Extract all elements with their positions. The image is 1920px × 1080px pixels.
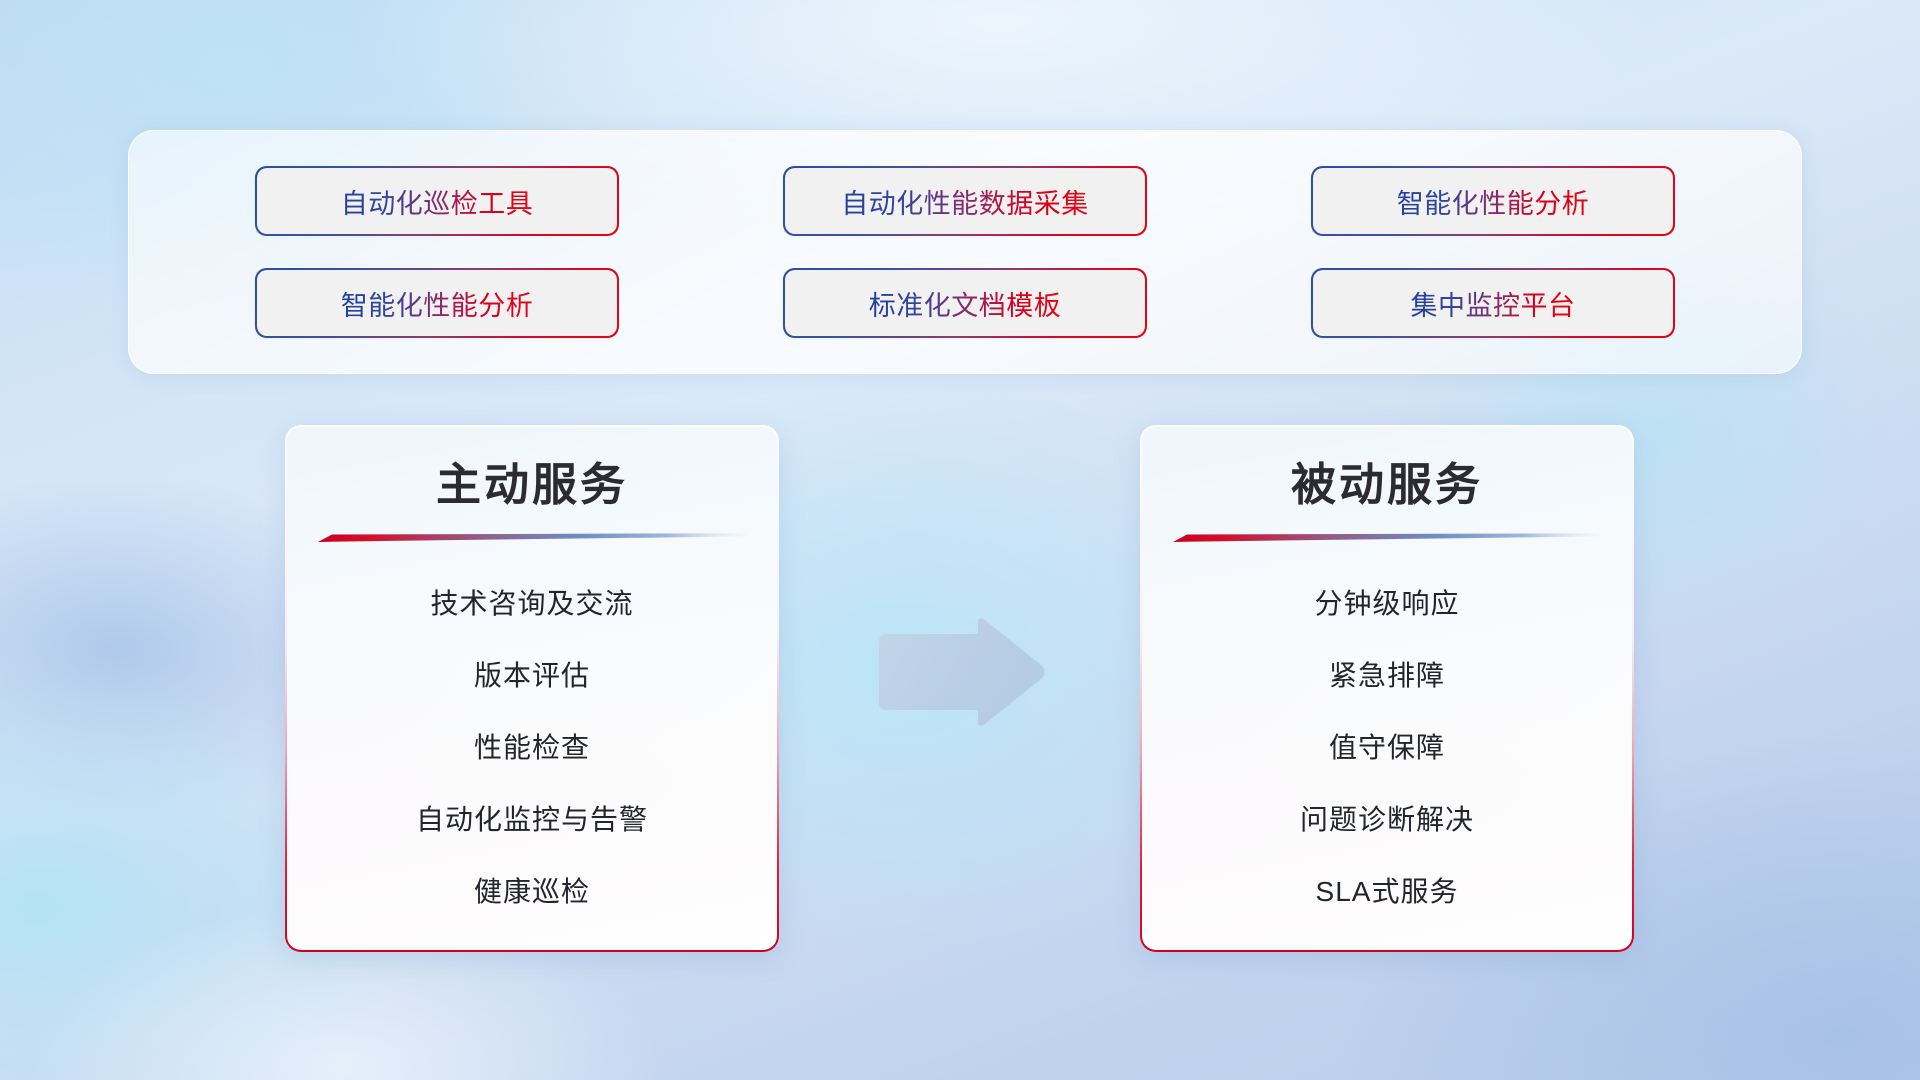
card-divider [318,533,746,542]
capability-pill-5[interactable]: 标准化文档模板 [785,270,1145,336]
service-card-reactive: 被动服务 分钟级响应 紧急排障 值守保障 [1140,425,1634,952]
capability-pill-label: 集中监控平台 [1411,284,1576,323]
list-item: 值守保障 [1329,712,1445,784]
capability-pill-3[interactable]: 智能化性能分析 [1313,168,1673,234]
list-item: 分钟级响应 [1314,568,1459,640]
service-card-proactive: 主动服务 技术咨询及交流 版本评估 性能检查 [285,425,779,952]
service-card-title: 主动服务 [436,459,628,511]
service-card-inner: 被动服务 分钟级响应 紧急排障 值守保障 [1142,427,1632,950]
list-item: 自动化监控与告警 [416,784,648,856]
capability-pill-2[interactable]: 自动化性能数据采集 [785,168,1145,234]
service-card-item-list: 技术咨询及交流 版本评估 性能检查 自动化监控与告警 健康巡检 [287,568,777,928]
capability-pill-1[interactable]: 自动化巡检工具 [257,168,617,234]
list-item: 健康巡检 [474,856,590,928]
list-item: 版本评估 [474,640,590,712]
arrow-right-icon [873,613,1048,733]
service-card-inner: 主动服务 技术咨询及交流 版本评估 性能检查 [287,427,777,950]
capability-panel: 自动化巡检工具 自动化性能数据采集 智能化性能分析 智能化性能分析 标准化文档模… [128,130,1802,374]
list-item: SLA式服务 [1316,856,1459,928]
capability-pill-label: 标准化文档模板 [869,284,1062,323]
service-card-title: 被动服务 [1291,459,1483,511]
list-item: 问题诊断解决 [1300,784,1474,856]
capability-pill-label: 智能化性能分析 [341,284,534,323]
list-item: 紧急排障 [1329,640,1445,712]
capability-pill-label: 自动化巡检工具 [341,182,534,221]
capability-pill-label: 智能化性能分析 [1397,182,1590,221]
service-card-item-list: 分钟级响应 紧急排障 值守保障 问题诊断解决 SLA式服务 [1142,568,1632,928]
list-item: 性能检查 [474,712,590,784]
capability-pill-grid: 自动化巡检工具 自动化性能数据采集 智能化性能分析 智能化性能分析 标准化文档模… [129,131,1801,373]
capability-pill-6[interactable]: 集中监控平台 [1313,270,1673,336]
card-divider [1173,533,1601,542]
list-item: 技术咨询及交流 [430,568,633,640]
capability-pill-label: 自动化性能数据采集 [841,182,1089,221]
capability-pill-4[interactable]: 智能化性能分析 [257,270,617,336]
